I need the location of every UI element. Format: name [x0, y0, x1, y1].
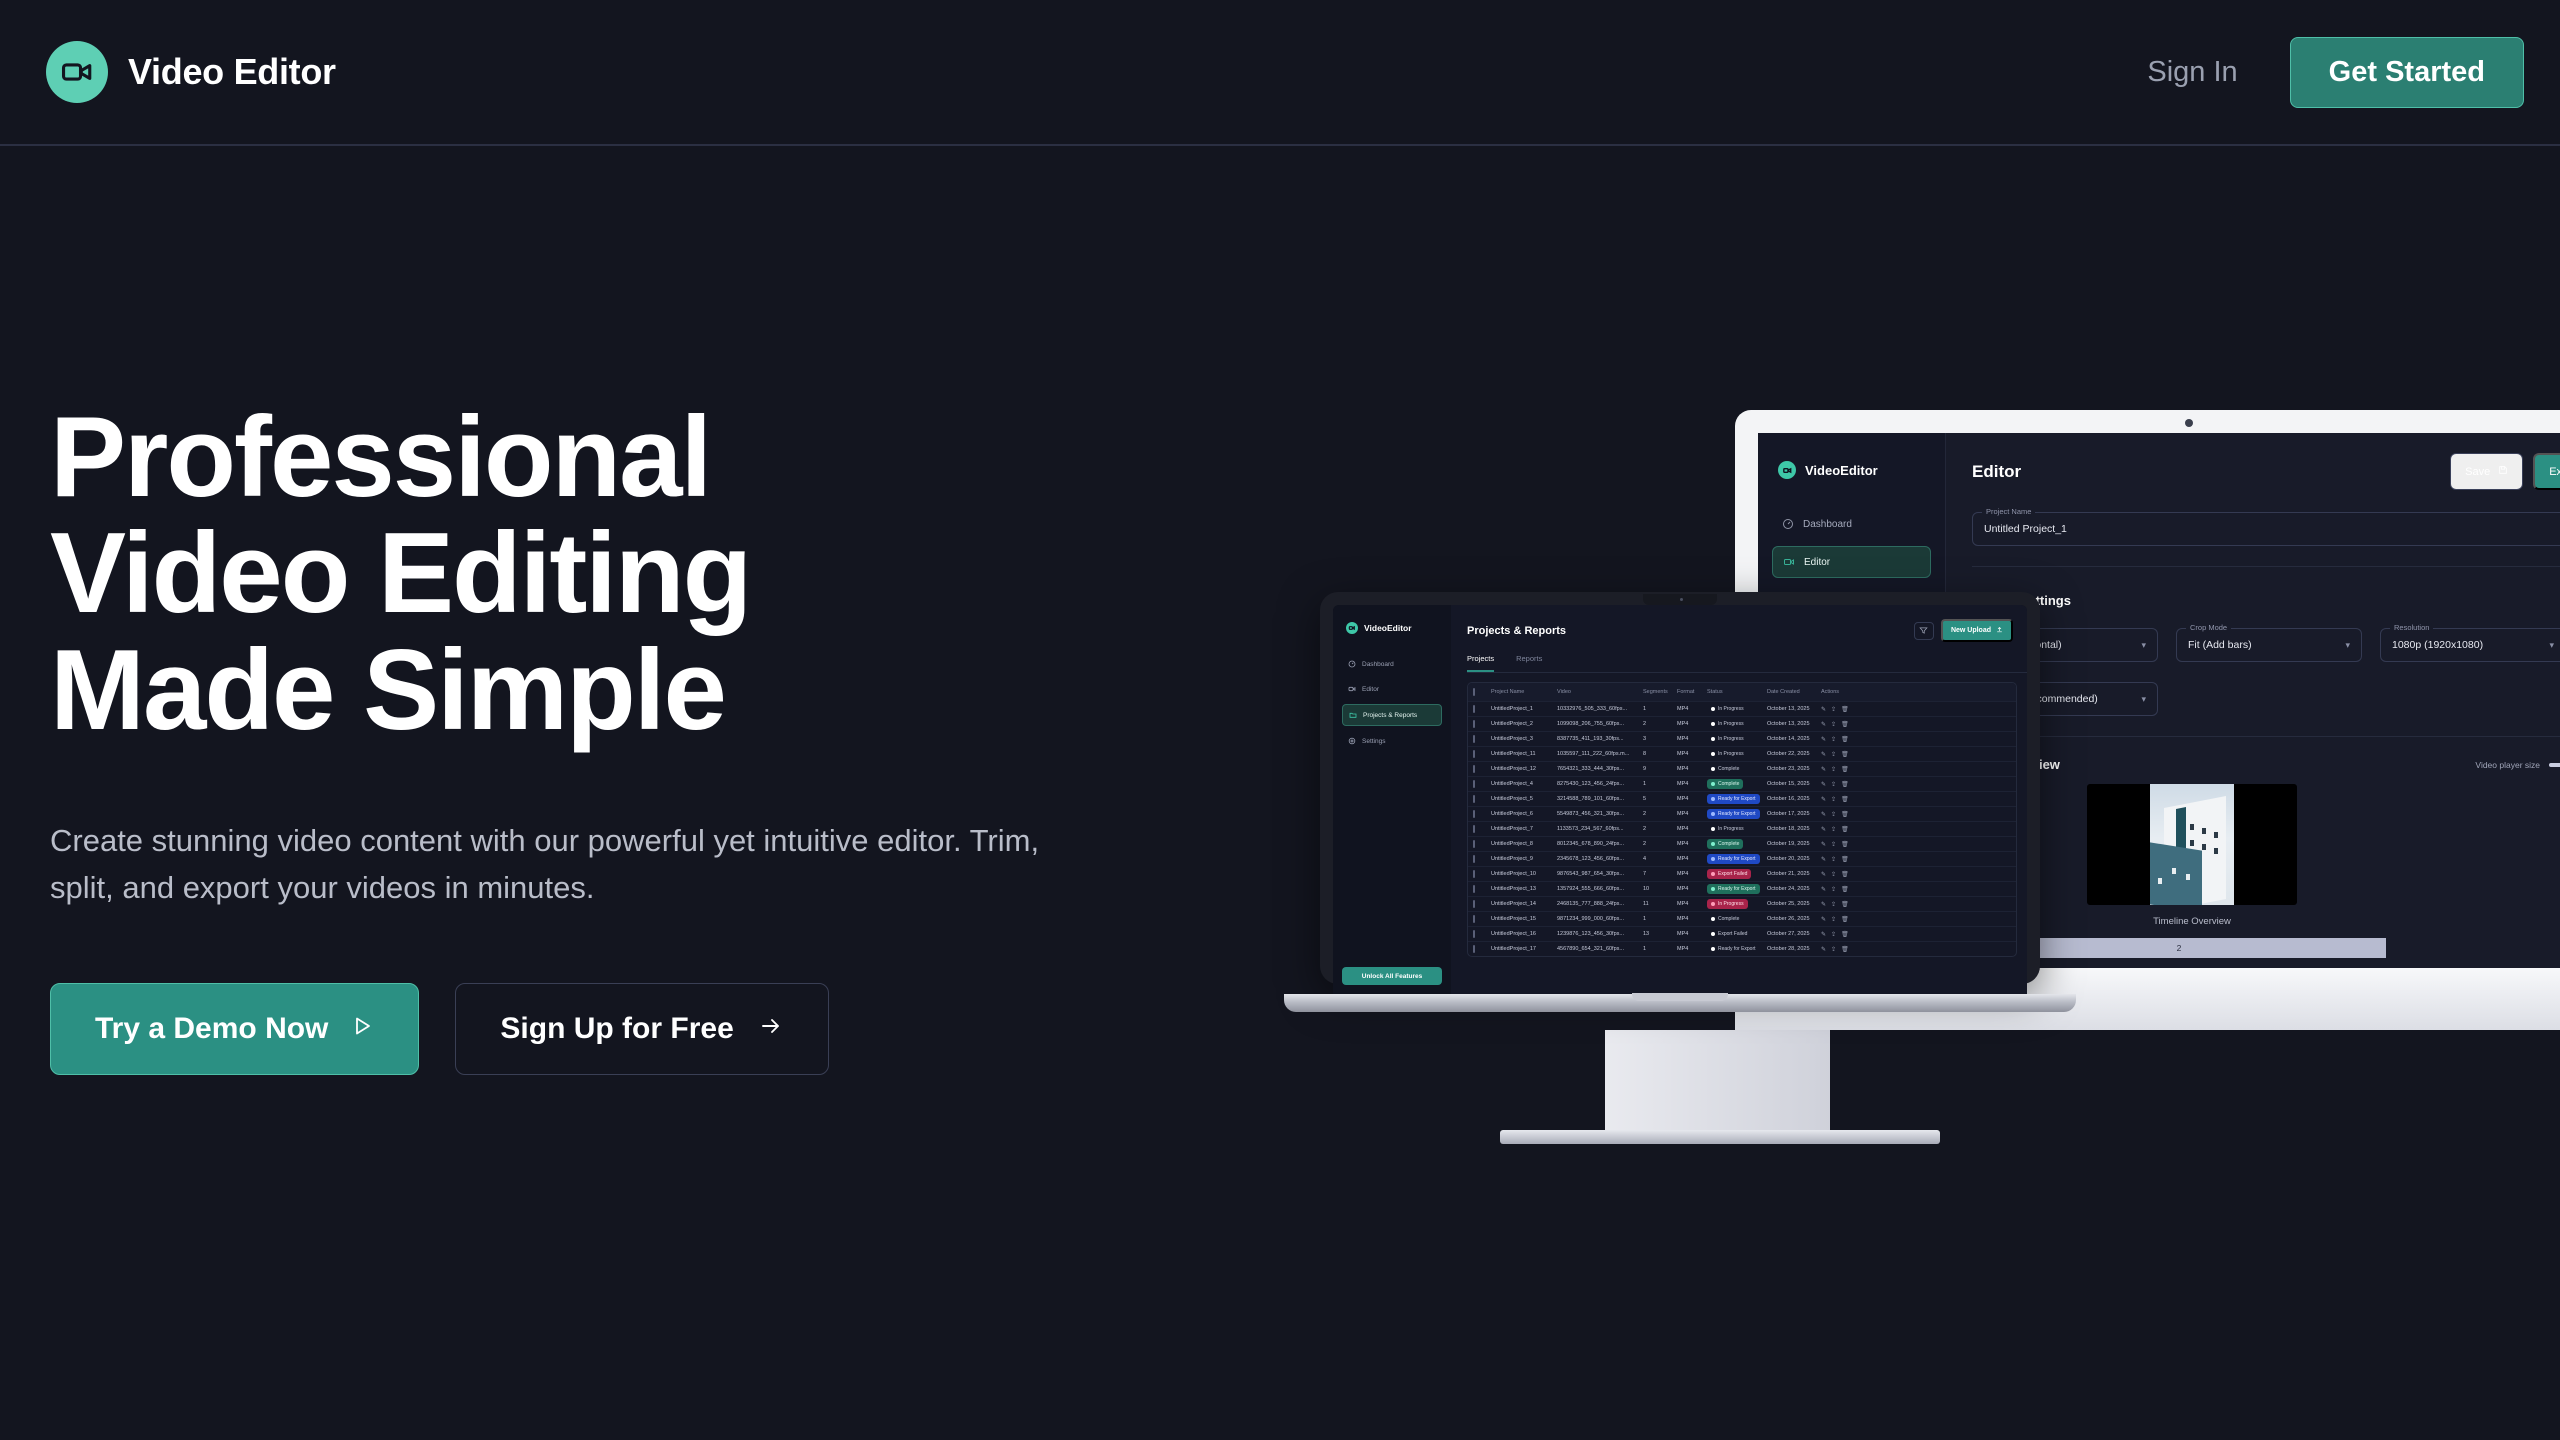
row-checkbox[interactable] — [1473, 735, 1475, 743]
cell-project-name: UntitledProject_12 — [1491, 766, 1557, 772]
cell-project-name: UntitledProject_6 — [1491, 811, 1557, 817]
cell-actions: ✎⇪🗑 — [1821, 781, 1867, 788]
folder-icon — [1349, 711, 1357, 719]
edit-icon[interactable]: ✎ — [1821, 811, 1826, 818]
cell-video: 10332976_505_333_60fps... — [1557, 706, 1643, 712]
delete-icon[interactable]: 🗑 — [1841, 946, 1849, 953]
editor-topbar-buttons: Save Export — [2450, 453, 2560, 490]
crop-mode-value: Fit (Add bars) — [2188, 639, 2252, 651]
cell-format: MP4 — [1677, 811, 1707, 817]
cell-actions: ✎⇪🗑 — [1821, 856, 1867, 863]
export-icon[interactable]: ⇪ — [1831, 766, 1836, 773]
cell-video: 1133573_234_567_60fps... — [1557, 826, 1643, 832]
edit-icon[interactable]: ✎ — [1821, 796, 1826, 803]
delete-icon[interactable]: 🗑 — [1841, 766, 1849, 773]
edit-icon[interactable]: ✎ — [1821, 856, 1826, 863]
table-row[interactable]: UntitledProject_71133573_234_567_60fps..… — [1468, 821, 2016, 836]
status-badge: In Progress — [1707, 824, 1767, 834]
row-checkbox[interactable] — [1473, 750, 1475, 758]
delete-icon[interactable]: 🗑 — [1841, 721, 1849, 728]
format-settings-row-1: Aspect Ratio 16:9 (Horizontal) ▾ Crop Mo… — [1972, 628, 2560, 662]
status-badge: Ready for Export — [1707, 809, 1767, 819]
table-row[interactable]: UntitledProject_88012345_678_890_24fps..… — [1468, 836, 2016, 851]
filter-funnel-icon[interactable] — [1914, 622, 1934, 640]
cell-date-created: October 18, 2025 — [1767, 826, 1821, 832]
cell-video: 8012345_678_890_24fps... — [1557, 841, 1643, 847]
project-name-value: Untitled Project_1 — [1984, 523, 2067, 535]
edit-icon[interactable]: ✎ — [1821, 886, 1826, 893]
cell-date-created: October 22, 2025 — [1767, 751, 1821, 757]
brand-name: Video Editor — [128, 51, 336, 93]
laptop-notch — [1643, 594, 1717, 605]
cell-format: MP4 — [1677, 706, 1707, 712]
table-row[interactable]: UntitledProject_174567890_654_321_60fps.… — [1468, 941, 2016, 956]
column-header-video[interactable]: Video — [1557, 689, 1643, 695]
table-body: UntitledProject_110332976_505_333_60fps.… — [1468, 701, 2016, 956]
cell-actions: ✎⇪🗑 — [1821, 841, 1867, 848]
cell-project-name: UntitledProject_1 — [1491, 706, 1557, 712]
row-checkbox[interactable] — [1473, 795, 1475, 803]
projects-reports-tabs: Projects Reports — [1467, 654, 2027, 673]
table-row[interactable]: UntitledProject_92345678_123_456_60fps..… — [1468, 851, 2016, 866]
cell-format: MP4 — [1677, 751, 1707, 757]
resolution-value: 1080p (1920x1080) — [2392, 639, 2483, 651]
cell-format: MP4 — [1677, 766, 1707, 772]
cell-segments: 1 — [1643, 706, 1677, 712]
arrow-right-icon — [758, 1014, 784, 1044]
select-all-checkbox[interactable] — [1473, 688, 1475, 696]
cell-date-created: October 13, 2025 — [1767, 721, 1821, 727]
laptop-base — [1284, 994, 2076, 1012]
sidebar-item-settings[interactable]: Settings — [1342, 731, 1442, 751]
desktop-app-name: VideoEditor — [1805, 463, 1878, 478]
delete-icon[interactable]: 🗑 — [1841, 826, 1849, 833]
status-badge: Complete — [1707, 764, 1767, 774]
row-checkbox[interactable] — [1473, 915, 1475, 923]
edit-icon[interactable]: ✎ — [1821, 751, 1826, 758]
edit-icon[interactable]: ✎ — [1821, 916, 1826, 923]
export-label: Export — [2549, 466, 2560, 478]
delete-icon[interactable]: 🗑 — [1841, 706, 1849, 713]
status-badge: In Progress — [1707, 704, 1767, 714]
play-triangle-icon — [350, 1014, 374, 1044]
table-row[interactable]: UntitledProject_109876543_987_654_30fps.… — [1468, 866, 2016, 881]
brand-logo-group[interactable]: Video Editor — [46, 41, 336, 103]
upload-icon — [1996, 626, 2003, 635]
export-icon[interactable]: ⇪ — [1831, 841, 1836, 848]
cell-video: 8275430_123_456_24fps... — [1557, 781, 1643, 787]
cell-project-name: UntitledProject_4 — [1491, 781, 1557, 787]
laptop-mockup: VideoEditor Dashboard Editor — [1320, 592, 2040, 1012]
delete-icon[interactable]: 🗑 — [1841, 871, 1849, 878]
export-icon[interactable]: ⇪ — [1831, 736, 1836, 743]
row-checkbox[interactable] — [1473, 855, 1475, 863]
row-checkbox[interactable] — [1473, 930, 1475, 938]
cell-project-name: UntitledProject_17 — [1491, 946, 1557, 952]
cell-date-created: October 27, 2025 — [1767, 931, 1821, 937]
delete-icon[interactable]: 🗑 — [1841, 736, 1849, 743]
format-settings-title: Format Settings — [1972, 593, 2560, 608]
cell-video: 1099098_206_755_60fps... — [1557, 721, 1643, 727]
cell-segments: 13 — [1643, 931, 1677, 937]
try-demo-button[interactable]: Try a Demo Now — [50, 983, 419, 1075]
tab-projects[interactable]: Projects — [1467, 654, 1494, 672]
table-row[interactable]: UntitledProject_38387735_411_193_30fps..… — [1468, 731, 2016, 746]
cell-date-created: October 15, 2025 — [1767, 781, 1821, 787]
tab-reports[interactable]: Reports — [1516, 654, 1542, 672]
gear-icon — [1348, 737, 1356, 745]
laptop-app-screen: VideoEditor Dashboard Editor — [1333, 605, 2027, 999]
status-badge: In Progress — [1707, 899, 1767, 909]
row-checkbox[interactable] — [1473, 825, 1475, 833]
resolution-legend: Resolution — [2390, 623, 2433, 632]
export-icon[interactable]: ⇪ — [1831, 781, 1836, 788]
laptop-app-brand: VideoEditor — [1346, 622, 1442, 634]
table-row[interactable]: UntitledProject_127654321_333_444_30fps.… — [1468, 761, 2016, 776]
sidebar-item-label: Settings — [1362, 738, 1386, 745]
cell-segments: 2 — [1643, 811, 1677, 817]
export-button[interactable]: Export — [2533, 453, 2560, 490]
unlock-all-features-button[interactable]: Unlock All Features — [1342, 967, 1442, 985]
cell-format: MP4 — [1677, 721, 1707, 727]
table-row[interactable]: UntitledProject_48275430_123_456_24fps..… — [1468, 776, 2016, 791]
cell-format: MP4 — [1677, 871, 1707, 877]
table-row[interactable]: UntitledProject_65549873_456_321_30fps..… — [1468, 806, 2016, 821]
row-checkbox[interactable] — [1473, 705, 1475, 713]
sidebar-item-dashboard[interactable]: Dashboard — [1772, 509, 1931, 539]
webcam-dot-icon — [1680, 598, 1683, 601]
cell-format: MP4 — [1677, 946, 1707, 952]
cell-date-created: October 19, 2025 — [1767, 841, 1821, 847]
export-icon[interactable]: ⇪ — [1831, 721, 1836, 728]
column-header-date-created[interactable]: Date Created — [1767, 689, 1821, 695]
cell-date-created: October 26, 2025 — [1767, 916, 1821, 922]
sidebar-item-editor[interactable]: Editor — [1342, 679, 1442, 699]
cell-actions: ✎⇪🗑 — [1821, 721, 1867, 728]
cell-actions: ✎⇪🗑 — [1821, 751, 1867, 758]
row-checkbox[interactable] — [1473, 900, 1475, 908]
video-camera-icon — [46, 41, 108, 103]
try-demo-label: Try a Demo Now — [95, 1014, 328, 1044]
delete-icon[interactable]: 🗑 — [1841, 781, 1849, 788]
cell-segments: 3 — [1643, 736, 1677, 742]
table-row[interactable]: UntitledProject_111035597_111_222_60fps.… — [1468, 746, 2016, 761]
cell-actions: ✎⇪🗑 — [1821, 736, 1867, 743]
save-button[interactable]: Save — [2450, 453, 2523, 490]
cell-video: 1035597_111_222_60fps.m... — [1557, 751, 1643, 757]
row-checkbox[interactable] — [1473, 870, 1475, 878]
cell-date-created: October 13, 2025 — [1767, 706, 1821, 712]
delete-icon[interactable]: 🗑 — [1841, 886, 1849, 893]
laptop-app-name: VideoEditor — [1364, 623, 1412, 633]
divider — [1972, 566, 2560, 567]
chevron-down-icon: ▾ — [2345, 640, 2350, 651]
cell-segments: 8 — [1643, 751, 1677, 757]
sidebar-item-editor[interactable]: Editor — [1772, 546, 1931, 578]
cell-format: MP4 — [1677, 856, 1707, 862]
sign-up-free-button[interactable]: Sign Up for Free — [455, 983, 828, 1075]
gauge-icon — [1348, 660, 1356, 668]
video-player-size-control[interactable]: Video player size — [2475, 760, 2560, 770]
status-badge: Complete — [1707, 839, 1767, 849]
cell-video: 9871234_999_000_60fps... — [1557, 916, 1643, 922]
cell-segments: 5 — [1643, 796, 1677, 802]
sidebar-item-label: Projects & Reports — [1363, 712, 1417, 719]
project-name-input[interactable]: Project Name Untitled Project_1 — [1972, 512, 2560, 546]
cell-segments: 7 — [1643, 871, 1677, 877]
delete-icon[interactable]: 🗑 — [1841, 856, 1849, 863]
cell-format: MP4 — [1677, 916, 1707, 922]
projects-reports-title: Projects & Reports — [1467, 625, 1566, 637]
new-upload-button[interactable]: New Upload — [1941, 619, 2013, 642]
cell-date-created: October 21, 2025 — [1767, 871, 1821, 877]
sidebar-item-projects-reports[interactable]: Projects & Reports — [1342, 704, 1442, 726]
video-preview-header: Video Preview Video player size — [1972, 757, 2560, 772]
export-icon[interactable]: ⇪ — [1831, 916, 1836, 923]
cell-date-created: October 28, 2025 — [1767, 946, 1821, 952]
status-badge: Export Failed — [1707, 929, 1767, 939]
cell-video: 2468135_777_888_24fps... — [1557, 901, 1643, 907]
cell-date-created: October 20, 2025 — [1767, 856, 1821, 862]
row-checkbox[interactable] — [1473, 945, 1475, 953]
cell-format: MP4 — [1677, 931, 1707, 937]
hero-title-line-3: Made Simple — [50, 633, 1200, 749]
row-checkbox[interactable] — [1473, 780, 1475, 788]
hero-section: Professional Video Editing Made Simple C… — [0, 146, 1200, 1075]
cell-segments: 10 — [1643, 886, 1677, 892]
delete-icon[interactable]: 🗑 — [1841, 916, 1849, 923]
cell-format: MP4 — [1677, 736, 1707, 742]
video-player-size-slider[interactable] — [2549, 763, 2560, 767]
cell-segments: 1 — [1643, 781, 1677, 787]
status-badge: In Progress — [1707, 719, 1767, 729]
status-badge: In Progress — [1707, 749, 1767, 759]
get-started-button[interactable]: Get Started — [2290, 37, 2524, 108]
cell-segments: 1 — [1643, 916, 1677, 922]
laptop-topbar-actions: New Upload — [1914, 619, 2013, 642]
export-icon[interactable]: ⇪ — [1831, 901, 1836, 908]
cell-segments: 4 — [1643, 856, 1677, 862]
cell-segments: 1 — [1643, 946, 1677, 952]
delete-icon[interactable]: 🗑 — [1841, 751, 1849, 758]
status-badge: Ready for Export — [1707, 794, 1767, 804]
edit-icon[interactable]: ✎ — [1821, 826, 1826, 833]
sidebar-item-dashboard[interactable]: Dashboard — [1342, 654, 1442, 674]
sign-up-free-label: Sign Up for Free — [500, 1014, 733, 1044]
chevron-down-icon: ▾ — [2141, 694, 2146, 705]
row-checkbox[interactable] — [1473, 720, 1475, 728]
table-row[interactable]: UntitledProject_110332976_505_333_60fps.… — [1468, 701, 2016, 716]
cell-date-created: October 25, 2025 — [1767, 901, 1821, 907]
cell-actions: ✎⇪🗑 — [1821, 811, 1867, 818]
table-row[interactable]: UntitledProject_161239876_123_456_30fps.… — [1468, 926, 2016, 941]
cell-actions: ✎⇪🗑 — [1821, 886, 1867, 893]
header-actions: Sign In Get Started — [2147, 37, 2524, 108]
cell-format: MP4 — [1677, 841, 1707, 847]
cell-project-name: UntitledProject_10 — [1491, 871, 1557, 877]
video-camera-icon — [1778, 461, 1796, 479]
export-icon[interactable]: ⇪ — [1831, 886, 1836, 893]
cell-project-name: UntitledProject_3 — [1491, 736, 1557, 742]
cell-project-name: UntitledProject_7 — [1491, 826, 1557, 832]
status-badge: Complete — [1707, 779, 1767, 789]
editor-page-title: Editor — [1972, 462, 2021, 482]
cell-segments: 2 — [1643, 841, 1677, 847]
monitor-base — [1500, 1130, 1940, 1144]
crop-mode-select[interactable]: Crop Mode Fit (Add bars) ▾ — [2176, 628, 2362, 662]
table-header-row: Project Name Video Segments Format Statu… — [1468, 683, 2016, 701]
new-upload-label: New Upload — [1951, 627, 1991, 634]
laptop-app-main: Projects & Reports New Upload — [1451, 605, 2027, 999]
delete-icon[interactable]: 🗑 — [1841, 811, 1849, 818]
laptop-base-notch — [1632, 993, 1728, 1001]
cell-actions: ✎⇪🗑 — [1821, 916, 1867, 923]
video-camera-icon — [1346, 622, 1358, 634]
hero-title-line-2: Video Editing — [50, 516, 1200, 632]
cell-actions: ✎⇪🗑 — [1821, 946, 1867, 953]
gauge-icon — [1782, 518, 1794, 530]
column-header-format[interactable]: Format — [1677, 689, 1707, 695]
cell-format: MP4 — [1677, 901, 1707, 907]
edit-icon[interactable]: ✎ — [1821, 781, 1826, 788]
sidebar-item-label: Editor — [1362, 686, 1379, 693]
export-icon[interactable]: ⇪ — [1831, 706, 1836, 713]
sidebar-item-label: Editor — [1804, 557, 1830, 568]
resolution-select[interactable]: Resolution 1080p (1920x1080) ▾ — [2380, 628, 2560, 662]
row-checkbox[interactable] — [1473, 810, 1475, 818]
desktop-app-brand: VideoEditor — [1778, 461, 1931, 479]
divider — [1972, 736, 2560, 737]
cell-actions: ✎⇪🗑 — [1821, 871, 1867, 878]
cell-project-name: UntitledProject_8 — [1491, 841, 1557, 847]
cell-format: MP4 — [1677, 781, 1707, 787]
edit-icon[interactable]: ✎ — [1821, 766, 1826, 773]
cell-date-created: October 17, 2025 — [1767, 811, 1821, 817]
table-row[interactable]: UntitledProject_131357924_555_666_60fps.… — [1468, 881, 2016, 896]
laptop-app-topbar: Projects & Reports New Upload — [1467, 619, 2027, 642]
table-row[interactable]: UntitledProject_53214588_789_101_60fps..… — [1468, 791, 2016, 806]
export-icon[interactable]: ⇪ — [1831, 856, 1836, 863]
status-badge: Complete — [1707, 914, 1767, 924]
cell-segments: 2 — [1643, 721, 1677, 727]
project-name-legend: Project Name — [1982, 507, 2035, 516]
edit-icon[interactable]: ✎ — [1821, 931, 1826, 938]
cell-actions: ✎⇪🗑 — [1821, 796, 1867, 803]
product-mockups: VideoEditor Dashboard Editor — [1320, 330, 2560, 1230]
status-badge: In Progress — [1707, 734, 1767, 744]
table-row[interactable]: UntitledProject_159871234_999_000_60fps.… — [1468, 911, 2016, 926]
delete-icon[interactable]: 🗑 — [1841, 841, 1849, 848]
cell-format: MP4 — [1677, 826, 1707, 832]
export-icon[interactable]: ⇪ — [1831, 826, 1836, 833]
save-disk-icon — [2498, 465, 2508, 478]
cell-actions: ✎⇪🗑 — [1821, 826, 1867, 833]
status-badge: Ready for Export — [1707, 854, 1767, 864]
cell-video: 1239876_123_456_30fps... — [1557, 931, 1643, 937]
cell-date-created: October 24, 2025 — [1767, 886, 1821, 892]
export-icon[interactable]: ⇪ — [1831, 751, 1836, 758]
cell-actions: ✎⇪🗑 — [1821, 706, 1867, 713]
cell-date-created: October 14, 2025 — [1767, 736, 1821, 742]
cell-project-name: UntitledProject_16 — [1491, 931, 1557, 937]
sign-in-link[interactable]: Sign In — [2147, 56, 2237, 89]
cell-video: 1357924_555_666_60fps... — [1557, 886, 1643, 892]
video-player-frame[interactable] — [2087, 784, 2297, 905]
cell-project-name: UntitledProject_5 — [1491, 796, 1557, 802]
desktop-app-topbar: Editor Save Export — [1972, 453, 2560, 490]
cell-segments: 9 — [1643, 766, 1677, 772]
cell-video: 9876543_987_654_30fps... — [1557, 871, 1643, 877]
page-title: Professional Video Editing Made Simple — [50, 400, 1200, 749]
cell-actions: ✎⇪🗑 — [1821, 766, 1867, 773]
cell-format: MP4 — [1677, 796, 1707, 802]
cell-date-created: October 23, 2025 — [1767, 766, 1821, 772]
status-badge: Export Failed — [1707, 869, 1767, 879]
edit-icon[interactable]: ✎ — [1821, 706, 1826, 713]
sidebar-item-label: Dashboard — [1803, 519, 1852, 530]
export-icon[interactable]: ⇪ — [1831, 796, 1836, 803]
export-icon[interactable]: ⇪ — [1831, 811, 1836, 818]
cell-project-name: UntitledProject_11 — [1491, 751, 1557, 757]
export-icon[interactable]: ⇪ — [1831, 871, 1836, 878]
status-badge: Ready for Export — [1707, 884, 1767, 894]
cell-project-name: UntitledProject_2 — [1491, 721, 1557, 727]
cell-video: 2345678_123_456_60fps... — [1557, 856, 1643, 862]
chevron-down-icon: ▾ — [2141, 640, 2146, 651]
column-header-segments[interactable]: Segments — [1643, 689, 1677, 695]
export-icon[interactable]: ⇪ — [1831, 931, 1836, 938]
monitor-stand — [1605, 1030, 1830, 1135]
table-row[interactable]: UntitledProject_142468135_777_888_24fps.… — [1468, 896, 2016, 911]
column-header-status[interactable]: Status — [1707, 689, 1767, 695]
cell-segments: 11 — [1643, 901, 1677, 907]
format-settings-row-2: Export Speed Quality (Recommended) ▾ — [1972, 682, 2560, 716]
cell-video: 8387735_411_193_30fps... — [1557, 736, 1643, 742]
edit-icon[interactable]: ✎ — [1821, 901, 1826, 908]
cell-project-name: UntitledProject_15 — [1491, 916, 1557, 922]
cell-project-name: UntitledProject_9 — [1491, 856, 1557, 862]
cell-video: 7654321_333_444_30fps... — [1557, 766, 1643, 772]
row-checkbox[interactable] — [1473, 840, 1475, 848]
delete-icon[interactable]: 🗑 — [1841, 901, 1849, 908]
column-header-project-name[interactable]: Project Name — [1491, 689, 1557, 695]
video-icon — [1348, 685, 1356, 693]
edit-icon[interactable]: ✎ — [1821, 946, 1826, 953]
cell-actions: ✎⇪🗑 — [1821, 901, 1867, 908]
edit-icon[interactable]: ✎ — [1821, 871, 1826, 878]
delete-icon[interactable]: 🗑 — [1841, 796, 1849, 803]
cell-actions: ✎⇪🗑 — [1821, 931, 1867, 938]
edit-icon[interactable]: ✎ — [1821, 736, 1826, 743]
site-header: Video Editor Sign In Get Started — [0, 0, 2560, 146]
hero-subtitle: Create stunning video content with our p… — [50, 817, 1110, 911]
projects-table: Project Name Video Segments Format Statu… — [1467, 682, 2017, 957]
webcam-dot-icon — [2185, 419, 2193, 427]
row-checkbox[interactable] — [1473, 765, 1475, 773]
cell-project-name: UntitledProject_14 — [1491, 901, 1557, 907]
save-label: Save — [2465, 466, 2490, 478]
export-icon[interactable]: ⇪ — [1831, 946, 1836, 953]
row-checkbox[interactable] — [1473, 885, 1475, 893]
delete-icon[interactable]: 🗑 — [1841, 931, 1849, 938]
column-header-actions: Actions — [1821, 689, 1867, 695]
edit-icon[interactable]: ✎ — [1821, 721, 1826, 728]
table-row[interactable]: UntitledProject_21099098_206_755_60fps..… — [1468, 716, 2016, 731]
video-icon — [1783, 556, 1795, 568]
chevron-down-icon: ▾ — [2549, 640, 2554, 651]
hero-title-line-1: Professional — [50, 400, 1200, 516]
edit-icon[interactable]: ✎ — [1821, 841, 1826, 848]
